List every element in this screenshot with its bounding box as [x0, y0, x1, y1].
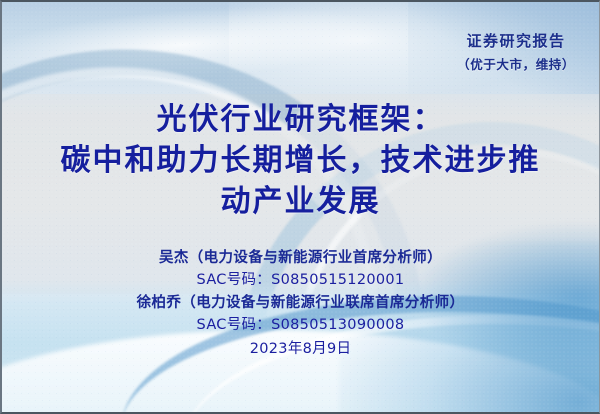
title-line-2: 碳中和助力长期增长，技术进步推	[2, 140, 599, 181]
analyst-primary-sac: SAC号码：S0850515120001	[2, 269, 599, 292]
analyst-primary-name: 吴杰（电力设备与新能源行业首席分析师）	[2, 247, 599, 269]
author-meta-block: 吴杰（电力设备与新能源行业首席分析师） SAC号码：S0850515120001…	[2, 247, 599, 361]
title-slide: 证券研究报告 （优于大市，维持） 光伏行业研究框架： 碳中和助力长期增长，技术进…	[0, 0, 600, 414]
title-line-1: 光伏行业研究框架：	[2, 99, 599, 140]
report-type-label: 证券研究报告	[457, 31, 575, 53]
publication-date: 2023年8月9日	[2, 337, 599, 361]
analyst-secondary-sac: SAC号码：S0850513090008	[2, 314, 599, 337]
analyst-secondary-name: 徐柏乔（电力设备与新能源行业联席首席分析师）	[2, 292, 599, 314]
rating-label: （优于大市，维持）	[457, 56, 575, 74]
page-title: 光伏行业研究框架： 碳中和助力长期增长，技术进步推 动产业发展	[2, 99, 599, 222]
title-line-3: 动产业发展	[2, 181, 599, 222]
slide-content: 证券研究报告 （优于大市，维持） 光伏行业研究框架： 碳中和助力长期增长，技术进…	[2, 2, 599, 412]
report-kicker: 证券研究报告 （优于大市，维持）	[457, 31, 575, 74]
